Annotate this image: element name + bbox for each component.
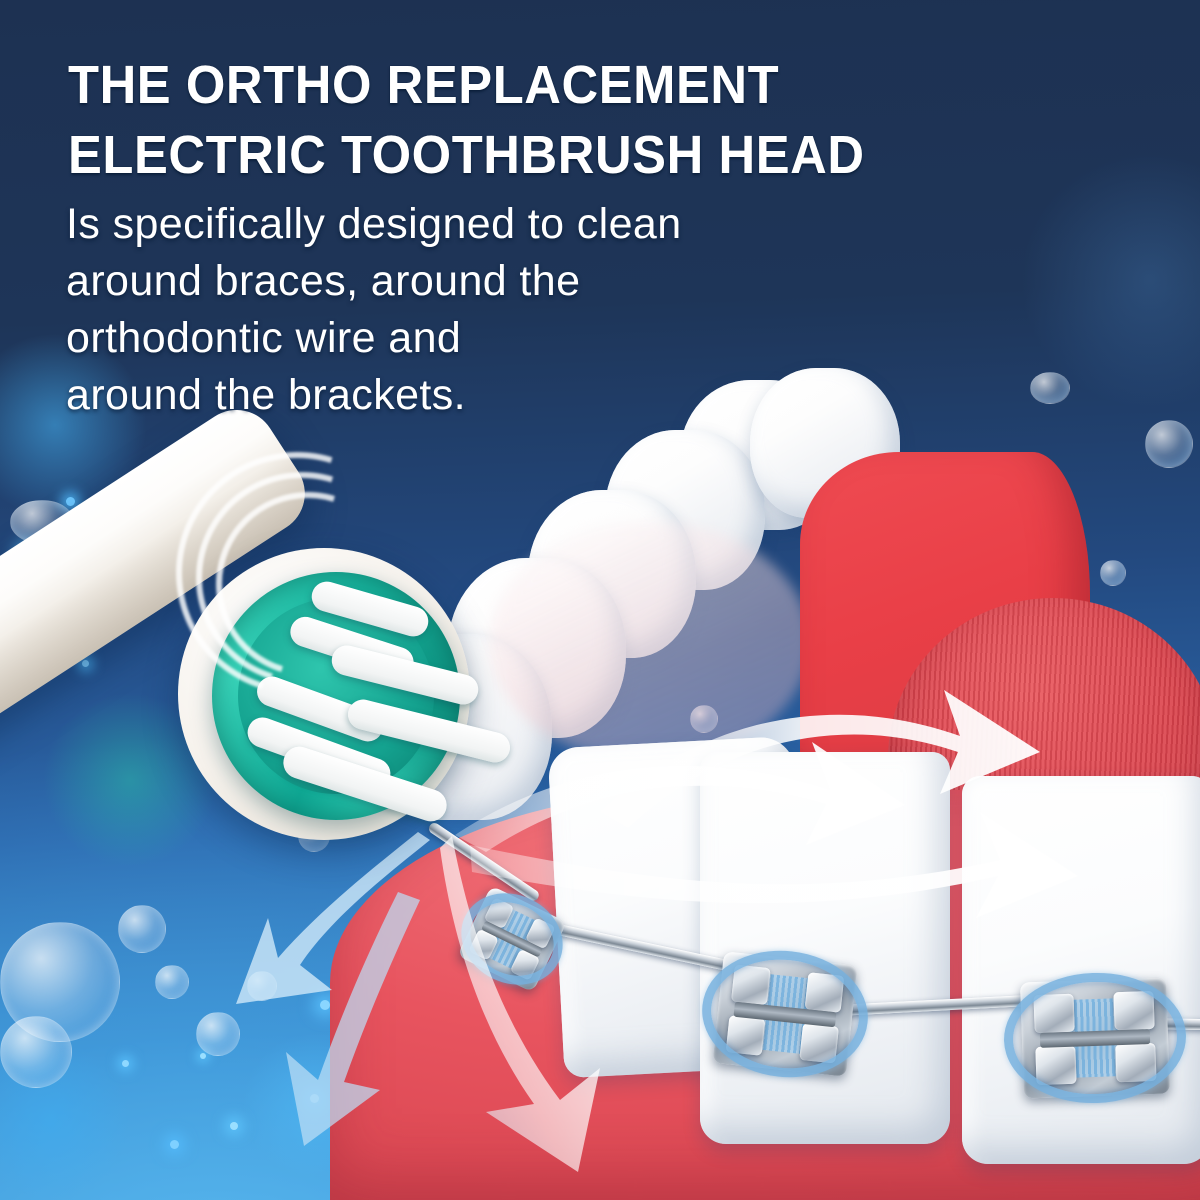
bubble xyxy=(196,1012,240,1056)
sparkle-dot xyxy=(320,1000,330,1010)
tooth-translucency-overlay xyxy=(490,522,810,762)
sparkle-dot xyxy=(82,660,89,667)
headline-line-1: THE ORTHO REPLACEMENT xyxy=(68,50,914,120)
subcopy-line-1: Is specifically designed to clean xyxy=(66,196,846,253)
sparkle-dot xyxy=(66,497,75,506)
sparkle-dot xyxy=(230,1122,238,1130)
subcopy-line-2: around braces, around the xyxy=(66,253,846,310)
bubble xyxy=(0,1016,72,1088)
bubble xyxy=(1100,560,1126,586)
subcopy-line-3: orthodontic wire and xyxy=(66,310,846,367)
bubble xyxy=(247,971,277,1001)
subtitle-copy: Is specifically designed to clean around… xyxy=(66,196,846,424)
sparkle-dot xyxy=(170,1140,179,1149)
sparkle-dot xyxy=(310,1094,319,1103)
glow-spot xyxy=(0,1040,130,1200)
subcopy-line-4: around the brackets. xyxy=(66,367,846,424)
product-marketing-image: THE ORTHO REPLACEMENT ELECTRIC TOOTHBRUS… xyxy=(0,0,1200,1200)
brace-bracket-right xyxy=(1020,977,1170,1098)
bubble xyxy=(118,905,166,953)
front-tooth-right xyxy=(962,776,1200,1164)
front-tooth-center xyxy=(700,752,950,1144)
glow-spot xyxy=(1020,150,1200,410)
bubble xyxy=(155,965,189,999)
bubble xyxy=(0,922,120,1042)
sparkle-dot xyxy=(122,1060,129,1067)
headline-line-2: ELECTRIC TOOTHBRUSH HEAD xyxy=(68,120,914,190)
page-title: THE ORTHO REPLACEMENT ELECTRIC TOOTHBRUS… xyxy=(68,50,914,190)
bubble xyxy=(1030,372,1070,404)
brace-bracket-center xyxy=(713,951,858,1076)
sparkle-dot xyxy=(200,1053,206,1059)
bubble xyxy=(1145,420,1193,468)
